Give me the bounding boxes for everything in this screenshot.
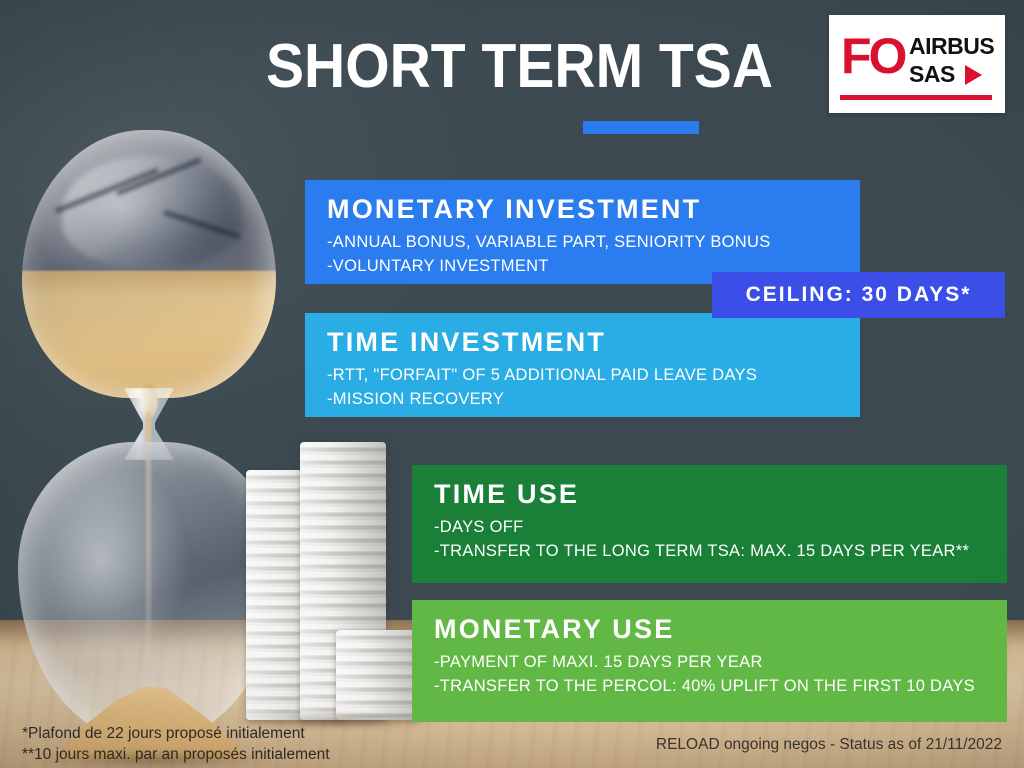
- block-line: -ANNUAL BONUS, VARIABLE PART, SENIORITY …: [327, 231, 838, 255]
- coin-stack: [336, 630, 420, 720]
- block-time-investment: TIME INVESTMENT -RTT, "FORFAIT" OF 5 ADD…: [305, 313, 860, 417]
- footnotes: *Plafond de 22 jours proposé initialemen…: [22, 723, 330, 766]
- block-title: TIME USE: [434, 479, 985, 510]
- block-title: TIME INVESTMENT: [327, 327, 838, 358]
- block-title: MONETARY USE: [434, 614, 985, 645]
- block-monetary-use: MONETARY USE -PAYMENT OF MAXI. 15 DAYS P…: [412, 600, 1007, 722]
- logo-fo-text: FO: [841, 31, 904, 81]
- logo-red-rule: [840, 95, 992, 100]
- block-line: -TRANSFER TO THE PERCOL: 40% UPLIFT ON T…: [434, 675, 985, 699]
- hourglass-top-bulb: [22, 130, 276, 398]
- footnote-double-asterisk: **10 jours maxi. par an proposés initial…: [22, 744, 330, 765]
- block-monetary-investment: MONETARY INVESTMENT -ANNUAL BONUS, VARIA…: [305, 180, 860, 284]
- page-title: SHORT TERM TSA: [266, 36, 726, 98]
- block-line: -MISSION RECOVERY: [327, 388, 838, 412]
- block-time-use: TIME USE -DAYS OFF -TRANSFER TO THE LONG…: [412, 465, 1007, 583]
- block-title: MONETARY INVESTMENT: [327, 194, 838, 225]
- title-underline-bar: [583, 121, 699, 134]
- block-line: -PAYMENT OF MAXI. 15 DAYS PER YEAR: [434, 651, 985, 675]
- play-triangle-icon: [965, 65, 982, 85]
- logo-airbus-text: AIRBUS: [909, 35, 994, 58]
- status-note: RELOAD ongoing negos - Status as of 21/1…: [656, 736, 1002, 754]
- block-line: -TRANSFER TO THE LONG TERM TSA: MAX. 15 …: [434, 540, 985, 564]
- footnote-single-asterisk: *Plafond de 22 jours proposé initialemen…: [22, 723, 330, 744]
- block-line: -DAYS OFF: [434, 516, 985, 540]
- fo-airbus-sas-logo: FO AIRBUS SAS: [829, 15, 1005, 113]
- ceiling-badge: CEILING: 30 DAYS*: [712, 272, 1005, 318]
- logo-sas-text: SAS: [909, 63, 955, 86]
- poster-canvas: FO AIRBUS SAS SHORT TERM TSA MONETARY IN…: [0, 0, 1024, 768]
- block-line: -RTT, "FORFAIT" OF 5 ADDITIONAL PAID LEA…: [327, 364, 838, 388]
